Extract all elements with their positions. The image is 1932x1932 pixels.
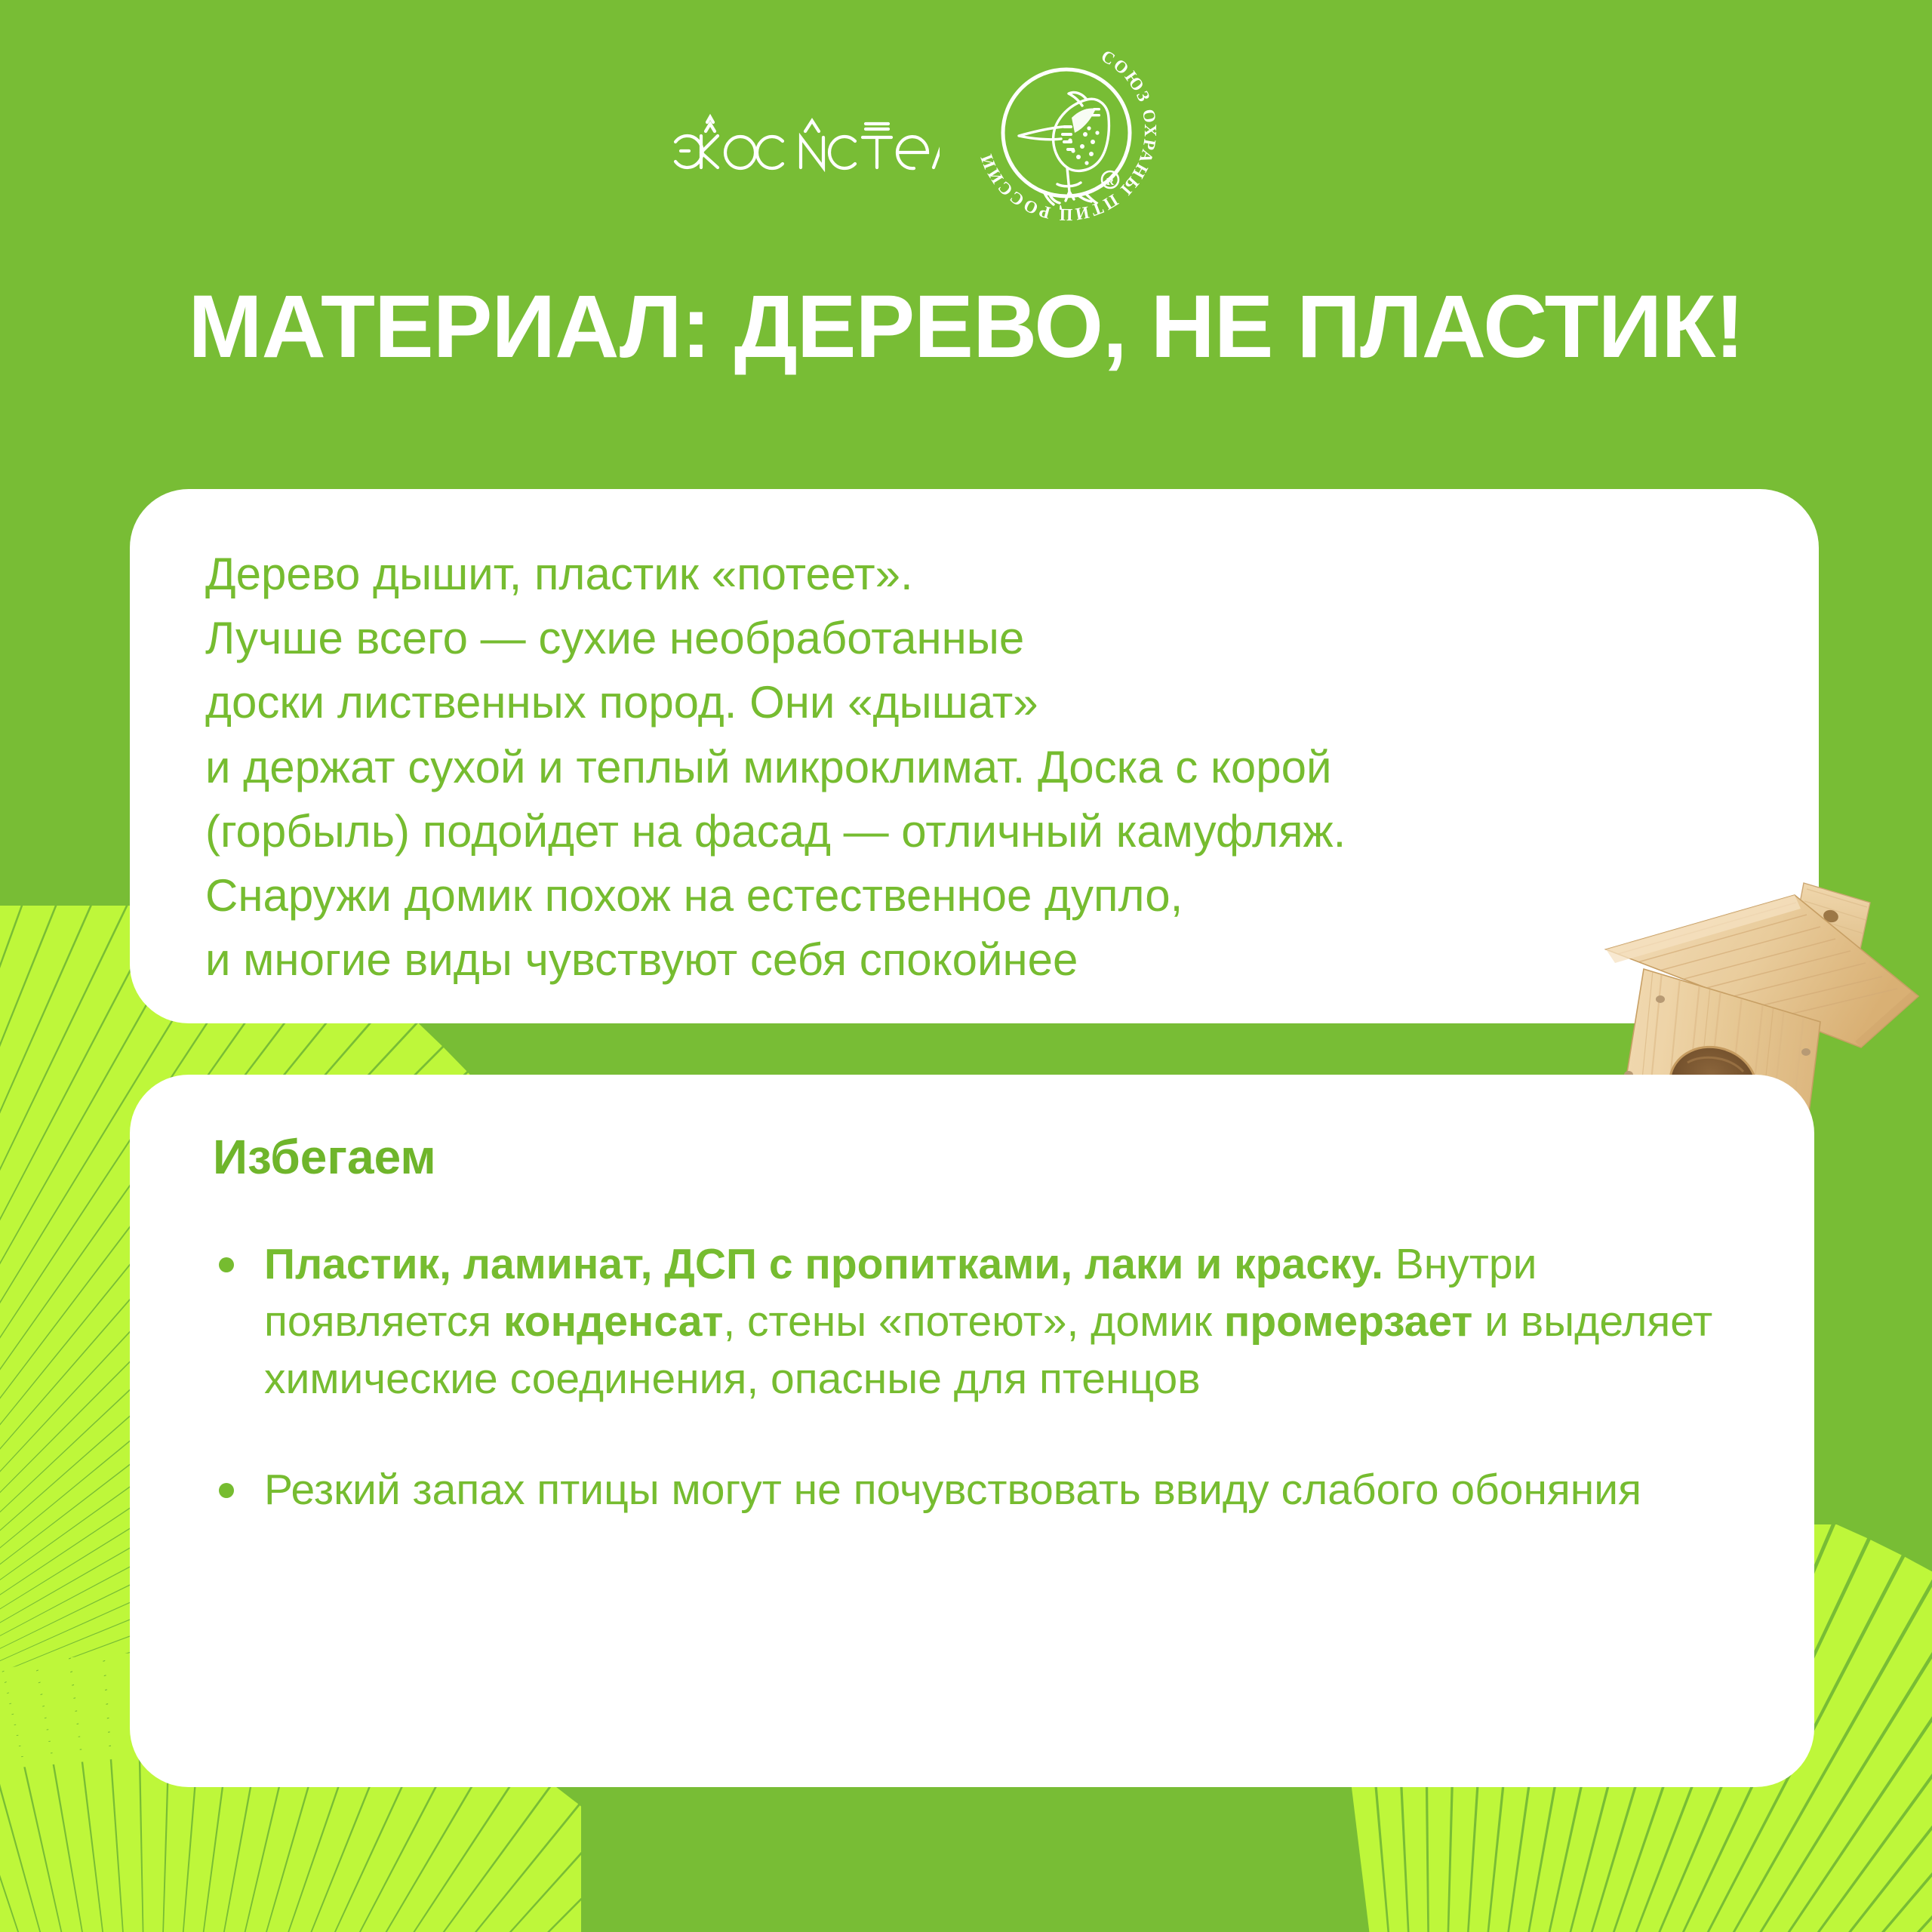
registered-mark-icon: R xyxy=(1102,171,1118,188)
bullet-emphasis-text: промерзает xyxy=(1224,1297,1472,1346)
avoid-bullet-item: Резкий запах птицы могут не почувствоват… xyxy=(205,1462,1746,1519)
avoid-bullet-item: Пластик, ламинат, ДСП с пропитками, лаки… xyxy=(205,1236,1746,1407)
bird-protection-union-logo: СОЮЗ ОХРАНЫ ПТИЦ РОССИИ xyxy=(972,36,1161,225)
poster-canvas: СОЮЗ ОХРАНЫ ПТИЦ РОССИИ xyxy=(0,0,1932,1932)
intro-paragraph: Дерево дышит, пластик «потеет». Лучше вс… xyxy=(205,542,1751,992)
bullet-text: Резкий запах птицы могут не почувствоват… xyxy=(264,1466,1641,1514)
bullet-dot-icon xyxy=(219,1483,234,1498)
bullet-emphasis-text: Пластик, ламинат, ДСП с пропитками, лаки… xyxy=(264,1240,1383,1288)
bullet-text: , стены «потеют», домик xyxy=(723,1297,1224,1346)
svg-text:R: R xyxy=(1106,177,1115,188)
bullet-emphasis-text: конденсат xyxy=(503,1297,723,1346)
header-logos: СОЮЗ ОХРАНЫ ПТИЦ РОССИИ xyxy=(0,0,1932,249)
avoid-card: Избегаем Пластик, ламинат, ДСП с пропитк… xyxy=(130,1075,1814,1787)
ecosystem-logo xyxy=(668,106,940,174)
avoid-heading: Избегаем xyxy=(213,1129,1746,1185)
bullet-dot-icon xyxy=(219,1257,234,1272)
page-title: МАТЕРИАЛ: ДЕРЕВО, НЕ ПЛАСТИК! xyxy=(0,281,1932,374)
avoid-bullet-list: Пластик, ламинат, ДСП с пропитками, лаки… xyxy=(205,1236,1746,1519)
